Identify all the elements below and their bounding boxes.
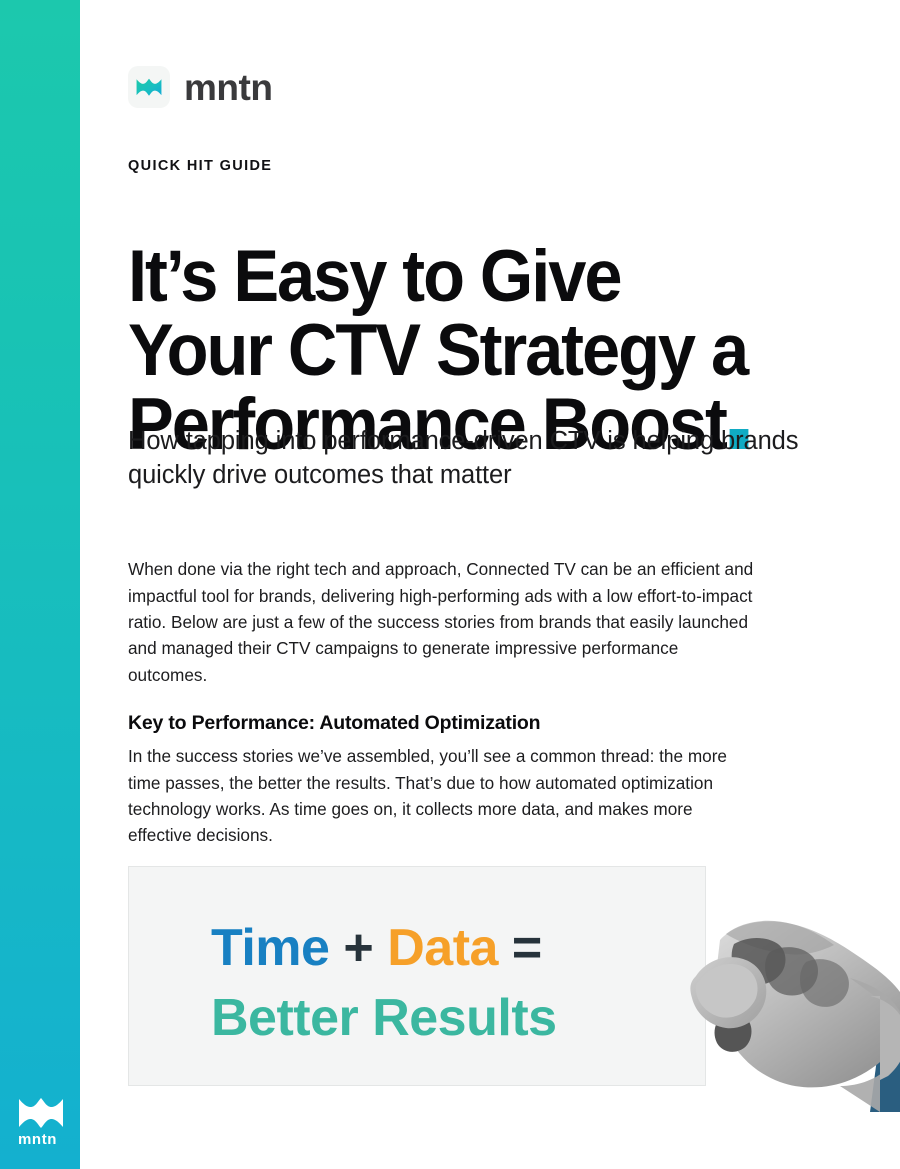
- equation-operator-plus: +: [343, 919, 373, 977]
- mntn-m-mark-white-icon: [18, 1097, 64, 1130]
- equation-term-time: Time: [211, 919, 329, 977]
- headline-line-1: It’s Easy to Give: [128, 236, 620, 317]
- section-paragraph: In the success stories we’ve assembled, …: [128, 743, 760, 849]
- eyebrow-label: QUICK HIT GUIDE: [128, 158, 272, 174]
- rail-logo-lockup: mntn: [18, 1097, 64, 1147]
- headline-line-2: Your CTV Strategy a: [128, 310, 747, 391]
- page-content: mntn QUICK HIT GUIDE It’s Easy to Give Y…: [128, 0, 900, 1169]
- intro-paragraph: When done via the right tech and approac…: [128, 556, 760, 688]
- equation-operator-equals: =: [512, 919, 542, 977]
- grabbing-hand-photo: [674, 900, 900, 1169]
- brand-lockup: mntn: [128, 66, 272, 108]
- mntn-m-mark-icon: [128, 66, 170, 108]
- left-accent-rail: mntn: [0, 0, 80, 1169]
- equation-text: Time + Data = Better Results: [211, 913, 671, 1053]
- equation-result-better-results: Better Results: [211, 989, 557, 1047]
- equation-callout-box: Time + Data = Better Results: [128, 866, 706, 1086]
- section-heading: Key to Performance: Automated Optimizati…: [128, 712, 540, 735]
- brand-wordmark: mntn: [184, 69, 272, 106]
- rail-logo-wordmark: mntn: [18, 1132, 64, 1147]
- equation-term-data: Data: [387, 919, 498, 977]
- page-subtitle: How tapping into performance-driven CTV …: [128, 424, 828, 492]
